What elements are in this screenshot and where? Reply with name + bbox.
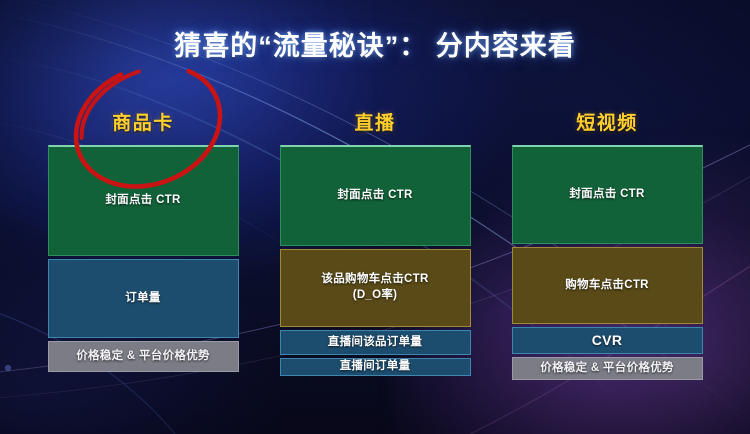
segment-label: 购物车点击CTR bbox=[561, 278, 653, 294]
funnel-stack-product-card: 封面点击 CTR 订单量 价格稳定 & 平台价格优势 bbox=[48, 145, 239, 372]
column-short-video: 短视频 封面点击 CTR 购物车点击CTR CVR 价格稳定 & 平台价格优势 bbox=[512, 112, 703, 380]
page-title: 猜喜的“流量秘诀”： 分内容来看 bbox=[0, 24, 750, 63]
funnel-segment[interactable]: 价格稳定 & 平台价格优势 bbox=[512, 357, 703, 380]
funnel-segment[interactable]: 该品购物车点击CTR (D_O率) bbox=[280, 249, 471, 327]
segment-label: 直播间订单量 bbox=[336, 359, 415, 375]
column-title-short-video: 短视频 bbox=[512, 112, 703, 136]
segment-label: 订单量 bbox=[121, 291, 164, 307]
funnel-segment[interactable]: 价格稳定 & 平台价格优势 bbox=[48, 341, 239, 372]
segment-label: 价格稳定 & 平台价格优势 bbox=[536, 361, 678, 377]
funnel-segment[interactable]: 直播间该品订单量 bbox=[280, 330, 471, 355]
column-product-card: 商品卡 封面点击 CTR 订单量 价格稳定 & 平台价格优势 bbox=[48, 112, 239, 380]
funnel-segment[interactable]: 订单量 bbox=[48, 259, 239, 338]
funnel-segment[interactable]: 购物车点击CTR bbox=[512, 247, 703, 324]
funnel-segment[interactable]: 封面点击 CTR bbox=[280, 145, 471, 246]
funnel-stack-short-video: 封面点击 CTR 购物车点击CTR CVR 价格稳定 & 平台价格优势 bbox=[512, 145, 703, 380]
segment-sublabel: (D_O率) bbox=[349, 288, 402, 304]
column-title-product-card: 商品卡 bbox=[48, 112, 239, 136]
funnel-stack-livestream: 封面点击 CTR 该品购物车点击CTR (D_O率) 直播间该品订单量 直播间订… bbox=[280, 145, 471, 376]
segment-label: CVR bbox=[588, 331, 626, 350]
segment-label: 封面点击 CTR bbox=[333, 188, 416, 204]
segment-label: 直播间该品订单量 bbox=[324, 335, 426, 351]
funnel-segment[interactable]: 封面点击 CTR bbox=[48, 145, 239, 256]
funnel-segment[interactable]: CVR bbox=[512, 327, 703, 354]
segment-label: 价格稳定 & 平台价格优势 bbox=[72, 349, 214, 365]
funnel-segment[interactable]: 封面点击 CTR bbox=[512, 145, 703, 244]
slide-canvas: 猜喜的“流量秘诀”： 分内容来看 商品卡 封面点击 CTR 订单量 价格稳定 &… bbox=[0, 0, 750, 434]
column-title-livestream: 直播 bbox=[280, 112, 471, 136]
segment-label: 封面点击 CTR bbox=[101, 193, 184, 209]
column-livestream: 直播 封面点击 CTR 该品购物车点击CTR (D_O率) 直播间该品订单量 直… bbox=[280, 112, 471, 380]
funnel-columns: 商品卡 封面点击 CTR 订单量 价格稳定 & 平台价格优势 直播 封面点击 C… bbox=[0, 112, 750, 380]
funnel-segment[interactable]: 直播间订单量 bbox=[280, 358, 471, 376]
segment-label: 封面点击 CTR bbox=[565, 187, 648, 203]
segment-label: 该品购物车点击CTR bbox=[317, 272, 432, 288]
